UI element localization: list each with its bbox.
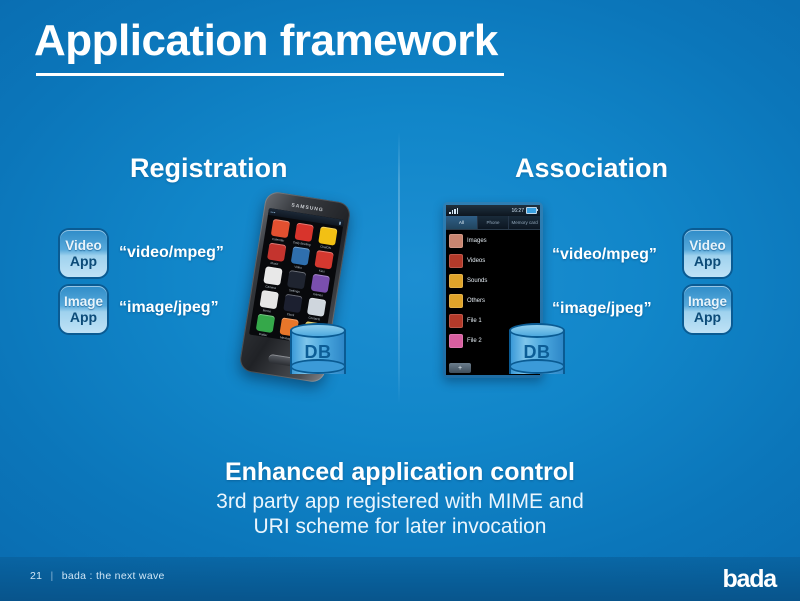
phone-app-icon[interactable]: Clock	[279, 293, 304, 318]
app-box-image-right[interactable]: Image App	[684, 286, 731, 333]
app-icon-glyph	[318, 226, 337, 245]
file-list-item[interactable]: Videos	[446, 251, 540, 271]
app-icon-glyph	[286, 270, 305, 289]
status-right-cluster: 16:27	[511, 207, 537, 214]
section-heading-registration: Registration	[130, 153, 288, 184]
phone-app-icon[interactable]: Kies	[311, 250, 336, 275]
phone-app-icon[interactable]: Dialler	[252, 313, 277, 338]
phone-app-icon[interactable]: Contacts	[303, 297, 328, 322]
footer-tagline: bada : the next wave	[62, 570, 165, 582]
app-box-label-line2: App	[70, 310, 97, 324]
app-box-label-line2: App	[694, 310, 721, 324]
footer-separator: |	[51, 570, 54, 582]
app-box-label-line2: App	[70, 254, 97, 268]
app-box-label-line1: Image	[64, 295, 103, 309]
app-icon-glyph	[255, 314, 274, 333]
caption-subline-1: 3rd party app registered with MIME and	[0, 490, 800, 514]
file-thumbnail-icon	[449, 274, 463, 288]
file-list-item-label: Others	[467, 298, 485, 304]
phone-app-icon[interactable]: Settings	[283, 269, 308, 294]
file-list-item[interactable]: Images	[446, 231, 540, 251]
phone-app-icon[interactable]: Daily Briefing	[291, 222, 316, 247]
file-manager-tab-phone[interactable]: Phone	[478, 216, 510, 229]
app-icon-glyph	[306, 297, 325, 316]
app-icon-glyph	[294, 222, 313, 241]
footer-page-number: 21	[30, 570, 42, 582]
database-cylinder-left: DB	[290, 323, 346, 381]
phone-app-icon[interactable]: Games	[307, 273, 332, 298]
file-list-item[interactable]: Others	[446, 291, 540, 311]
file-thumbnail-icon	[449, 294, 463, 308]
app-box-label-line1: Video	[689, 239, 726, 253]
app-icon-glyph	[314, 250, 333, 269]
app-icon-glyph	[270, 219, 289, 238]
app-box-label-line2: App	[694, 254, 721, 268]
phone-app-icon[interactable]: Memo	[256, 289, 281, 314]
db-cylinder-top	[290, 323, 346, 338]
file-list-item-label: Sounds	[467, 278, 487, 284]
phone-status-bar: 16:27	[446, 205, 540, 216]
phone-app-icon[interactable]: Calendar	[267, 218, 292, 243]
phone-app-icon[interactable]: Music	[263, 242, 288, 267]
section-heading-association: Association	[515, 153, 668, 184]
app-box-video-left[interactable]: Video App	[60, 230, 107, 277]
phone-app-icon[interactable]: ChatON	[314, 226, 339, 251]
status-dots: •••	[270, 209, 276, 215]
phone-app-icon[interactable]: Video	[287, 246, 312, 271]
db-label: DB	[290, 342, 346, 363]
add-softkey-button[interactable]: +	[449, 363, 471, 373]
phone-app-icon[interactable]: Camera	[259, 266, 284, 291]
database-cylinder-right: DB	[509, 323, 565, 381]
page-title-underline	[36, 73, 504, 76]
file-list-item-label: File 2	[467, 338, 482, 344]
app-icon-glyph	[283, 294, 302, 313]
caption-subline-2: URI scheme for later invocation	[0, 515, 800, 539]
signal-bars-icon	[449, 208, 458, 214]
status-time: 16:27	[511, 208, 524, 214]
file-list-item-label: File 1	[467, 318, 482, 324]
app-icon-glyph	[263, 266, 282, 285]
mime-label-image-left: “image/jpeg”	[119, 299, 219, 317]
app-icon-glyph	[259, 290, 278, 309]
file-thumbnail-icon	[449, 314, 463, 328]
file-thumbnail-icon	[449, 234, 463, 248]
mime-label-video-right: “video/mpeg”	[552, 246, 657, 264]
app-icon-glyph	[266, 242, 285, 261]
bada-logo: bada	[722, 565, 776, 594]
mime-label-video-left: “video/mpeg”	[119, 244, 224, 262]
file-list-item-label: Images	[467, 238, 487, 244]
caption-headline: Enhanced application control	[0, 458, 800, 487]
slide-canvas: Application framework Registration Video…	[0, 0, 800, 601]
app-box-label-line1: Video	[65, 239, 102, 253]
file-list-item-label: Videos	[467, 258, 485, 264]
file-manager-tab-memory-card[interactable]: Memory card	[509, 216, 540, 229]
battery-icon	[526, 207, 537, 214]
app-icon-glyph	[290, 246, 309, 265]
page-title: Application framework	[34, 18, 498, 64]
app-icon-glyph	[310, 274, 329, 293]
app-box-video-right[interactable]: Video App	[684, 230, 731, 277]
slide-footer: 21 | bada : the next wave bada	[0, 557, 800, 601]
db-label: DB	[509, 342, 565, 363]
app-box-image-left[interactable]: Image App	[60, 286, 107, 333]
mime-label-image-right: “image/jpeg”	[552, 300, 652, 318]
footer-text: 21 | bada : the next wave	[30, 570, 165, 582]
db-cylinder-top	[509, 323, 565, 338]
file-list-item[interactable]: Sounds	[446, 271, 540, 291]
app-box-label-line1: Image	[688, 295, 727, 309]
status-battery-icon: ▮	[339, 220, 342, 225]
file-manager-tab-all[interactable]: All	[446, 216, 478, 229]
file-thumbnail-icon	[449, 254, 463, 268]
panel-divider	[398, 132, 400, 404]
file-thumbnail-icon	[449, 334, 463, 348]
file-manager-tabs[interactable]: AllPhoneMemory card	[446, 216, 540, 230]
